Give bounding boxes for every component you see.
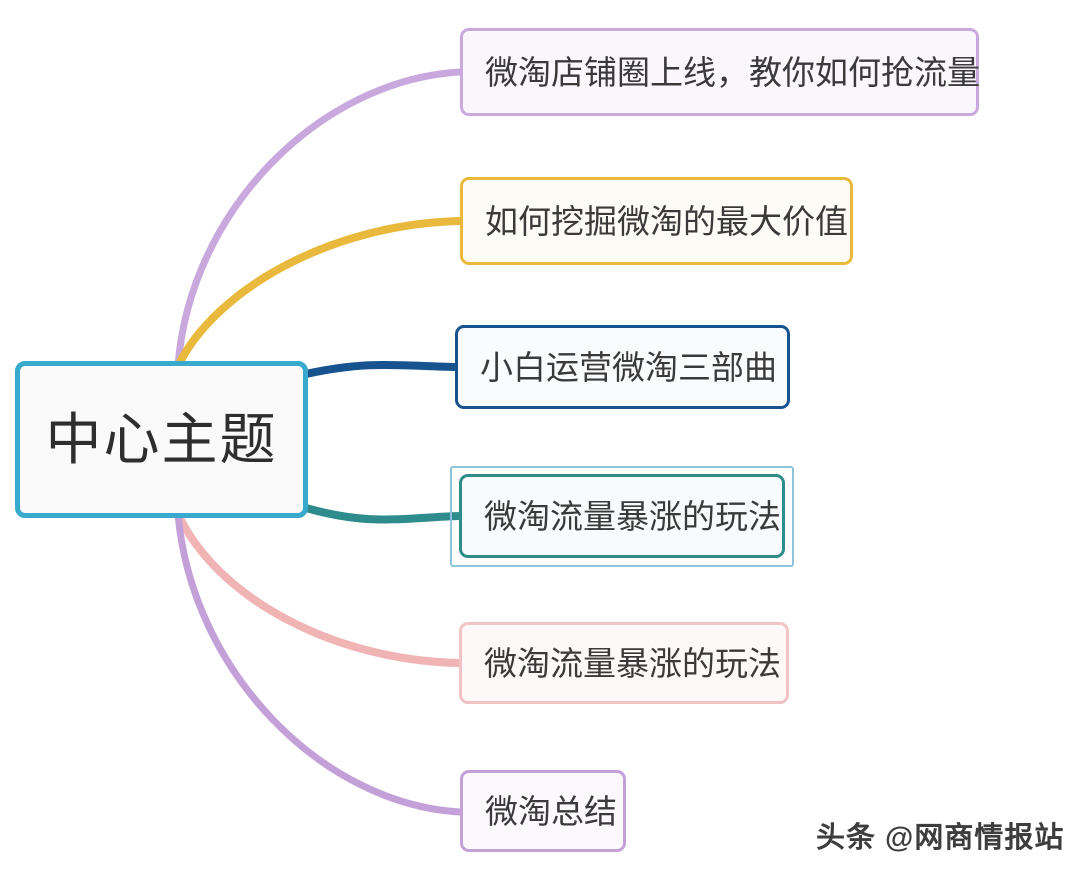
- connector-branch-2: [306, 365, 457, 374]
- branch-node-3[interactable]: 小白运营微淘三部曲: [455, 325, 790, 409]
- central-topic-node[interactable]: 中心主题: [15, 361, 308, 518]
- connector-branch-5: [178, 514, 460, 812]
- branch-node-4-label: 微淘流量暴涨的玩法: [484, 500, 781, 533]
- connector-branch-3: [306, 508, 459, 520]
- branch-node-3-label: 小白运营微淘三部曲: [480, 351, 777, 384]
- branch-node-2-label: 如何挖掘微淘的最大价值: [485, 205, 848, 238]
- connector-branch-1: [178, 221, 460, 366]
- central-topic-label: 中心主题: [46, 412, 278, 468]
- connector-branch-4: [178, 514, 459, 663]
- branch-node-1-label: 微淘店铺圈上线，教你如何抢流量: [485, 56, 980, 89]
- branch-node-5[interactable]: 微淘流量暴涨的玩法: [459, 622, 789, 704]
- branch-node-4-selected[interactable]: 微淘流量暴涨的玩法: [459, 474, 785, 558]
- connector-branch-0: [178, 72, 460, 366]
- branch-node-6-label: 微淘总结: [485, 795, 617, 828]
- watermark-text: 头条 @网商情报站: [816, 814, 1064, 856]
- branch-node-5-label: 微淘流量暴涨的玩法: [484, 647, 781, 680]
- branch-node-2[interactable]: 如何挖掘微淘的最大价值: [460, 177, 853, 265]
- mindmap-canvas: 中心主题 微淘店铺圈上线，教你如何抢流量 如何挖掘微淘的最大价值 小白运营微淘三…: [0, 0, 1080, 871]
- branch-node-6[interactable]: 微淘总结: [460, 770, 626, 852]
- branch-node-1[interactable]: 微淘店铺圈上线，教你如何抢流量: [460, 28, 979, 116]
